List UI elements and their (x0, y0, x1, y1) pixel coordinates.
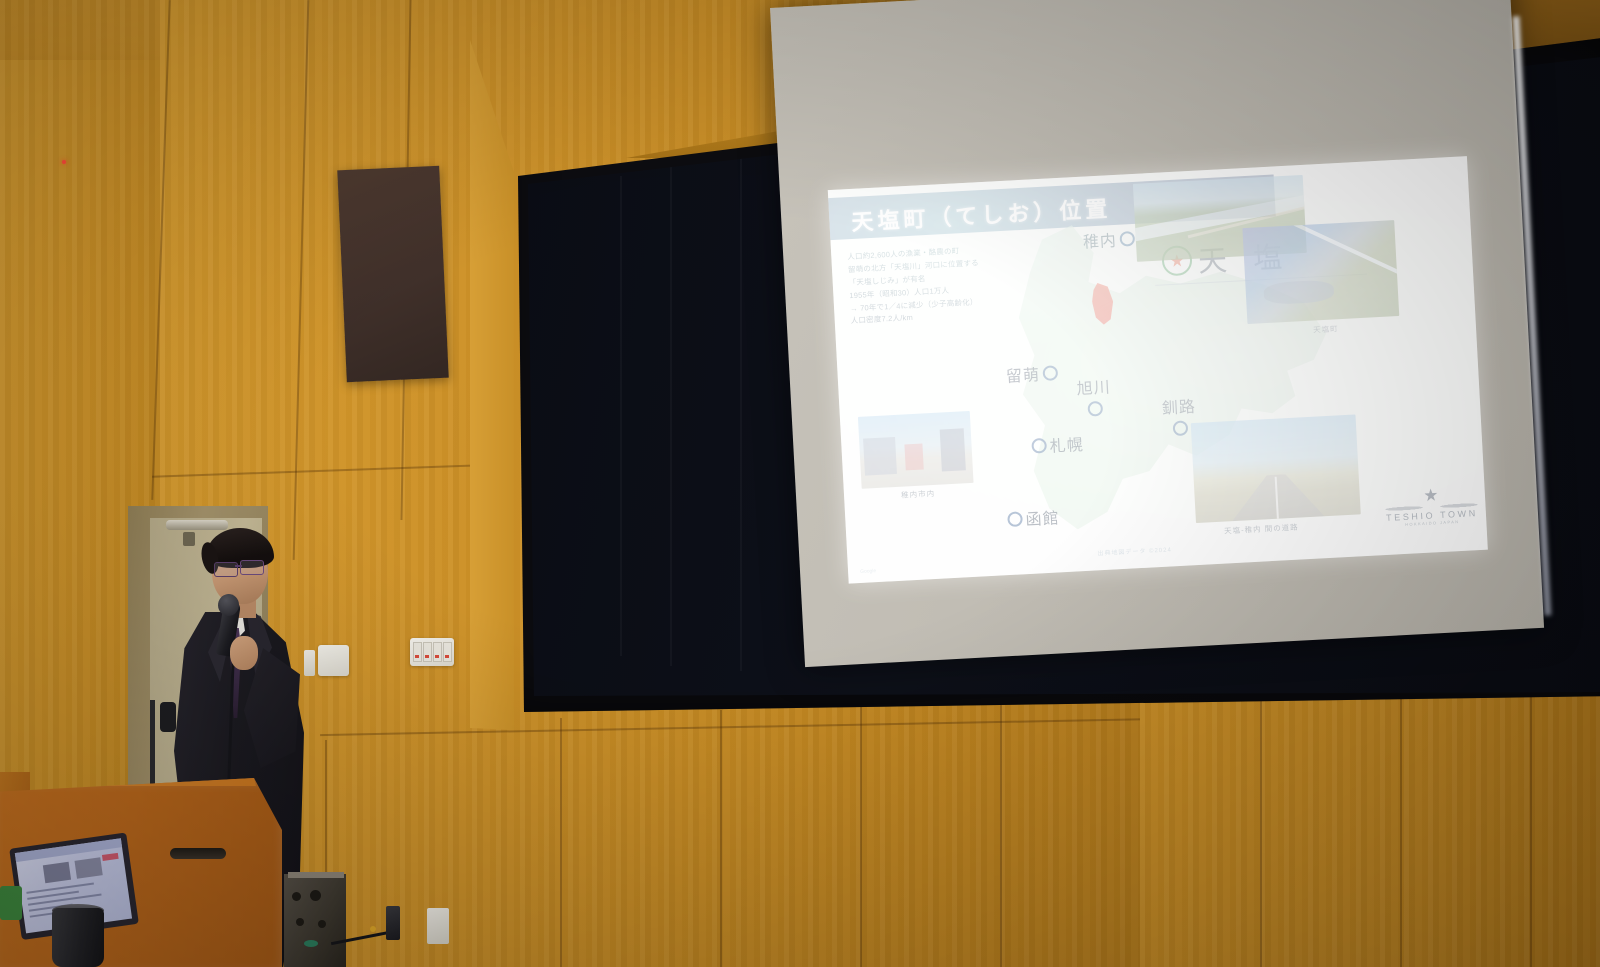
city-marker-sapporo: 札幌 (1031, 431, 1084, 458)
green-object (0, 886, 22, 920)
rack-top-rail (288, 872, 344, 878)
city-dot-icon (1042, 365, 1058, 381)
projection-screen: 天塩町（てしお）位置 人口約2,600人の漁業・酪農の町 留萌の北方「天塩川」河… (770, 0, 1544, 667)
wall-plate-narrow[interactable] (304, 650, 315, 676)
map-attribution: 出典地図データ ©2024 (1097, 544, 1172, 557)
teshio-town-logo: TESHIO TOWN HOKKAIDO JAPAN (1385, 486, 1479, 528)
photo-teshio-coast-aerial (1242, 220, 1399, 324)
page-thumbnail (43, 862, 71, 883)
light-switch-plate[interactable] (410, 638, 454, 666)
city-label: 札幌 (1049, 431, 1084, 457)
city-dot-icon (1119, 230, 1135, 246)
lectern-handle-slot (170, 848, 226, 859)
photo-wakkanai-street (858, 411, 974, 489)
light-switch-key[interactable] (443, 642, 452, 662)
presentation-slide: 天塩町（てしお）位置 人口約2,600人の漁業・酪農の町 留萌の北方「天塩川」河… (828, 156, 1488, 583)
light-switch-key[interactable] (433, 642, 442, 662)
city-label: 釧路 (1161, 393, 1196, 419)
eyeglasses-icon (240, 560, 264, 575)
presenter-hand (230, 636, 258, 670)
city-label: 函館 (1025, 504, 1060, 530)
city-dot-icon (1172, 420, 1188, 436)
tumbler (52, 908, 104, 967)
av-equipment-rack (284, 874, 346, 967)
city-dot-icon (1007, 511, 1023, 527)
logo-star-icon (1424, 488, 1438, 502)
photo-caption: 稚内市内 (862, 486, 974, 503)
panel-seam (560, 718, 562, 967)
panel-seam (1000, 692, 1002, 967)
city-marker-asahikawa: 旭川 (1076, 373, 1112, 417)
power-adapter (386, 906, 400, 940)
laser-pointer-dot (62, 160, 66, 164)
city-label: 留萌 (1005, 361, 1040, 387)
panel-seam (860, 700, 862, 967)
panel-seam (320, 718, 1160, 736)
city-dot-icon (1031, 437, 1047, 453)
wall-outlet[interactable] (427, 908, 449, 944)
photo-highway (1191, 414, 1361, 523)
city-dot-icon (1087, 401, 1103, 417)
page-thumbnail (75, 857, 103, 878)
city-marker-hakodate: 函館 (1007, 504, 1060, 531)
lecture-hall-photo: 天塩町（てしお）位置 人口約2,600人の漁業・酪農の町 留萌の北方「天塩川」河… (0, 0, 1600, 967)
cable-connector-light (370, 926, 376, 932)
city-label: 旭川 (1076, 373, 1111, 399)
light-switch-key[interactable] (413, 642, 422, 662)
eyeglasses-bridge (235, 565, 242, 567)
panel-seam (293, 0, 310, 560)
light-switch-key[interactable] (423, 642, 432, 662)
map-source: Google (860, 568, 876, 575)
wall-plate-blank[interactable] (318, 645, 349, 676)
panel-seam (720, 710, 722, 967)
acoustic-wall-panel (337, 166, 449, 382)
page-accent-block (102, 853, 119, 861)
panel-seam (152, 464, 482, 478)
city-marker-wakkanai: 稚内 (1082, 226, 1135, 253)
city-label: 稚内 (1082, 227, 1117, 253)
city-marker-rumoi: 留萌 (1005, 360, 1058, 387)
